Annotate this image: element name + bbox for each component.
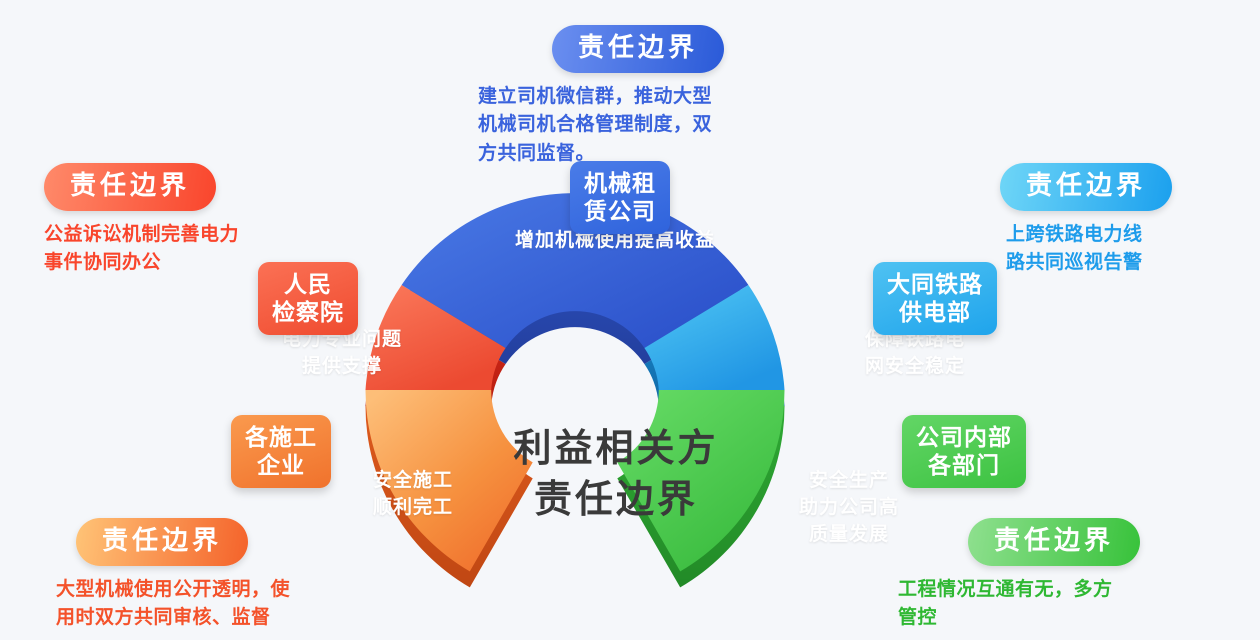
callout-datong-railway: 责任边界 上跨铁路电力线 路共同巡视告警 xyxy=(1000,163,1250,278)
segment-label-datong-railway[interactable]: 大同铁路 供电部 xyxy=(873,262,997,335)
callout-desc-datong-railway: 上跨铁路电力线 路共同巡视告警 xyxy=(1000,221,1250,278)
page-title: 利益相关方 责任边界 xyxy=(466,424,766,525)
callout-desc-internal-departments: 工程情况互通有无，多方 管控 xyxy=(898,576,1260,633)
segment-desc-people-procuratorate: 电力专业问题 提供支撑 xyxy=(262,327,422,381)
segment-desc-datong-railway: 保障铁路电 网安全稳定 xyxy=(835,327,995,381)
callout-badge-machinery-leasing: 责任边界 xyxy=(552,25,724,73)
segment-label-machinery-leasing[interactable]: 机械租 赁公司 xyxy=(570,161,670,234)
callout-machinery-leasing: 责任边界 建立司机微信群，推动大型 机械司机合格管理制度，双 方共同监督。 xyxy=(478,25,798,168)
segment-desc-internal-departments: 安全生产 助力公司高 质量发展 xyxy=(779,468,919,549)
segment-label-internal-departments[interactable]: 公司内部 各部门 xyxy=(902,415,1026,488)
callout-internal-departments: 责任边界 工程情况互通有无，多方 管控 xyxy=(968,518,1260,633)
infographic-canvas: 责任边界 公益诉讼机制完善电力 事件协同办公 责任边界 建立司机微信群，推动大型… xyxy=(0,0,1260,640)
callout-badge-datong-railway: 责任边界 xyxy=(1000,163,1172,211)
callout-badge-people-procuratorate: 责任边界 xyxy=(44,163,216,211)
callout-badge-internal-departments: 责任边界 xyxy=(968,518,1140,566)
segment-desc-construction-enterprises: 安全施工 顺利完工 xyxy=(343,468,483,522)
callout-desc-machinery-leasing: 建立司机微信群，推动大型 机械司机合格管理制度，双 方共同监督。 xyxy=(478,83,798,169)
segment-label-construction-enterprises[interactable]: 各施工 企业 xyxy=(231,415,331,488)
segment-label-people-procuratorate[interactable]: 人民 检察院 xyxy=(258,262,358,335)
